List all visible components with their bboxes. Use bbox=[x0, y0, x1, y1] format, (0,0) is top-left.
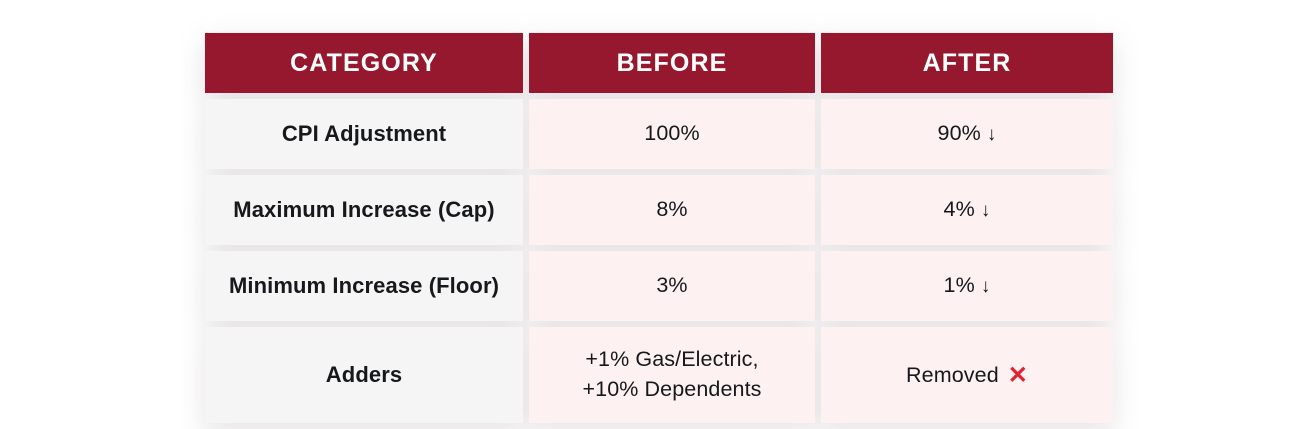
cell-before: 3% bbox=[529, 251, 815, 321]
cell-after-value: 1% bbox=[944, 273, 975, 297]
table-header: CATEGORY BEFORE AFTER bbox=[205, 33, 1113, 93]
cell-before: +1% Gas/Electric, +10% Dependents bbox=[529, 327, 815, 423]
before-after-comparison-table: CATEGORY BEFORE AFTER CPI Adjustment 100… bbox=[199, 27, 1119, 429]
cell-category: Adders bbox=[205, 327, 523, 423]
column-header-category: CATEGORY bbox=[205, 33, 523, 93]
column-header-after: AFTER bbox=[821, 33, 1113, 93]
cell-after-value: 90% bbox=[938, 121, 981, 145]
cell-category: Minimum Increase (Floor) bbox=[205, 251, 523, 321]
page-canvas: CATEGORY BEFORE AFTER CPI Adjustment 100… bbox=[0, 0, 1300, 426]
cell-before: 100% bbox=[529, 99, 815, 169]
down-arrow-icon: ↓ bbox=[981, 198, 991, 224]
table-row: Minimum Increase (Floor) 3% 1%↓ bbox=[205, 251, 1113, 321]
column-header-before: BEFORE bbox=[529, 33, 815, 93]
down-arrow-icon: ↓ bbox=[981, 274, 991, 300]
red-x-icon: ✕ bbox=[1008, 359, 1028, 392]
cell-after: Removed✕ bbox=[821, 327, 1113, 423]
table-body: CPI Adjustment 100% 90%↓ Maximum Increas… bbox=[205, 99, 1113, 423]
table-header-row: CATEGORY BEFORE AFTER bbox=[205, 33, 1113, 93]
cell-before: 8% bbox=[529, 175, 815, 245]
table-row: Adders +1% Gas/Electric, +10% Dependents… bbox=[205, 327, 1113, 423]
comparison-table-container: CATEGORY BEFORE AFTER CPI Adjustment 100… bbox=[205, 33, 1095, 423]
down-arrow-icon: ↓ bbox=[987, 122, 997, 148]
cell-category: Maximum Increase (Cap) bbox=[205, 175, 523, 245]
table-row: CPI Adjustment 100% 90%↓ bbox=[205, 99, 1113, 169]
cell-after: 4%↓ bbox=[821, 175, 1113, 245]
table-row: Maximum Increase (Cap) 8% 4%↓ bbox=[205, 175, 1113, 245]
cell-after-value: 4% bbox=[944, 197, 975, 221]
cell-before-line-2: +10% Dependents bbox=[539, 375, 805, 405]
cell-after: 1%↓ bbox=[821, 251, 1113, 321]
cell-after-value: Removed bbox=[906, 363, 999, 387]
cell-before-line-1: +1% Gas/Electric, bbox=[539, 345, 805, 375]
cell-after: 90%↓ bbox=[821, 99, 1113, 169]
cell-category: CPI Adjustment bbox=[205, 99, 523, 169]
